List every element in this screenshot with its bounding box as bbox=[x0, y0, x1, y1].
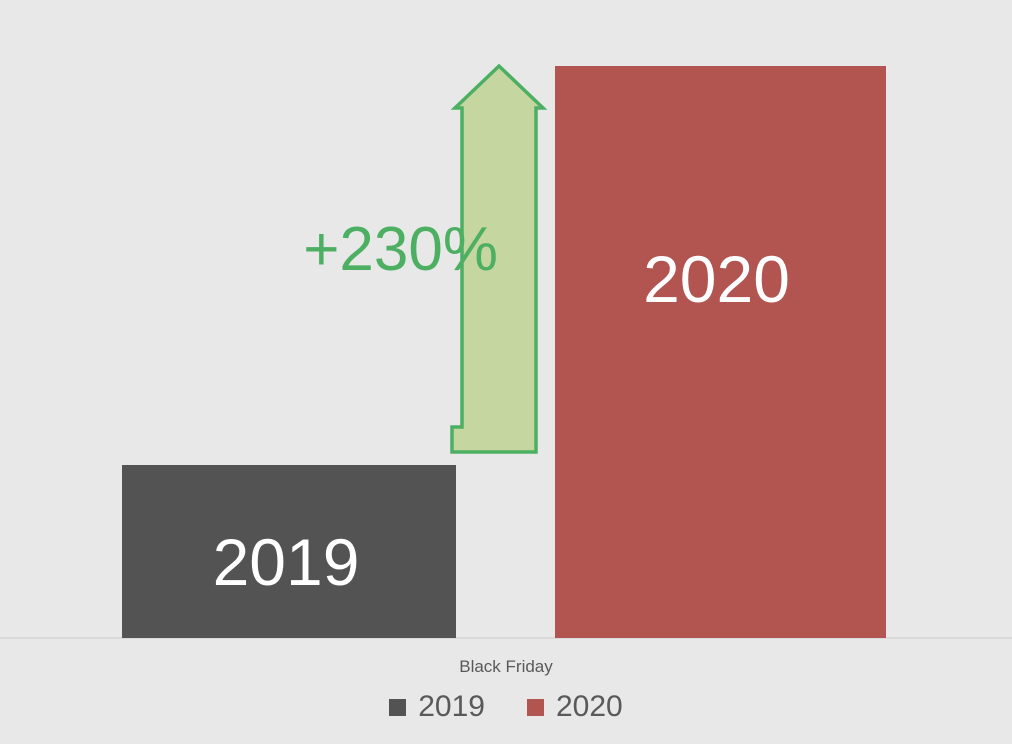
bar-label-2020: 2020 bbox=[643, 246, 790, 312]
legend: 2019 2020 bbox=[0, 692, 1012, 722]
legend-item-2019[interactable]: 2019 bbox=[389, 692, 485, 722]
legend-swatch-2019 bbox=[389, 699, 406, 716]
legend-swatch-2020 bbox=[527, 699, 544, 716]
category-axis-label: Black Friday bbox=[0, 658, 1012, 675]
bar-label-2019: 2019 bbox=[213, 529, 360, 595]
legend-label-2019: 2019 bbox=[418, 692, 485, 722]
growth-percentage-label: +230% bbox=[262, 219, 498, 281]
plot-area: 2019 2020 +230% bbox=[0, 0, 1012, 639]
bar-2019[interactable]: 2019 bbox=[122, 465, 456, 638]
bar-chart: 2019 2020 +230% Black Friday 2019 2020 bbox=[0, 0, 1012, 744]
bar-2020[interactable]: 2020 bbox=[555, 66, 886, 638]
legend-item-2020[interactable]: 2020 bbox=[527, 692, 623, 722]
legend-label-2020: 2020 bbox=[556, 692, 623, 722]
